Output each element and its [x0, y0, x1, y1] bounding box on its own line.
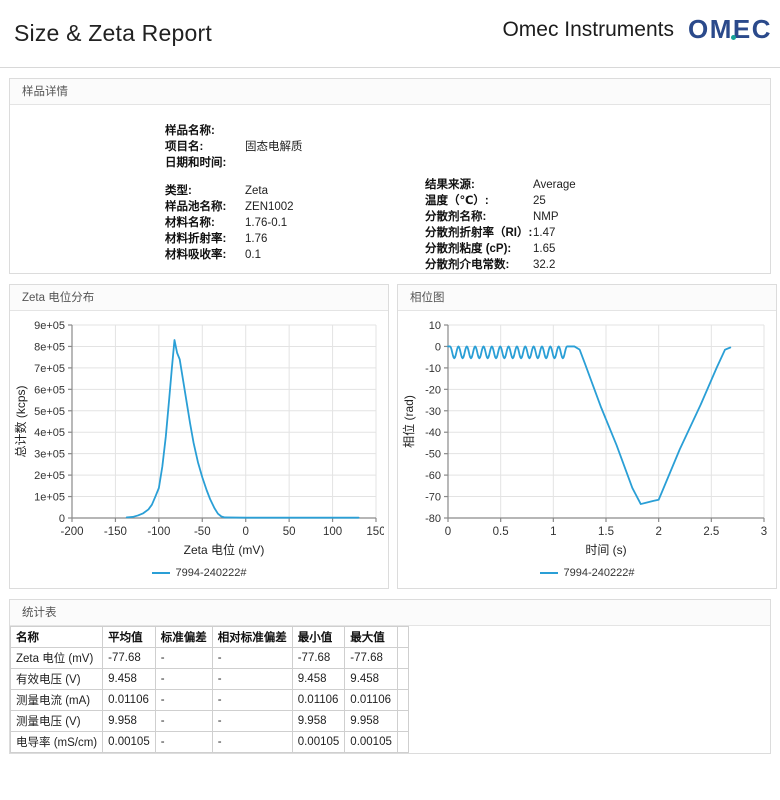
detail-label: 类型:: [165, 183, 245, 199]
table-cell: [397, 711, 408, 732]
svg-text:-50: -50: [194, 526, 211, 538]
stats-table-panel: 统计表 名称平均值标准偏差相对标准偏差最小值最大值 Zeta 电位 (mV)-7…: [9, 599, 771, 754]
detail-label: 分散剂折射率（RI）:: [425, 225, 533, 241]
table-cell: 0.00105: [292, 732, 345, 753]
table-cell: 9.458: [292, 669, 345, 690]
zeta-distribution-svg: 01e+052e+053e+054e+055e+056e+057e+058e+0…: [14, 315, 384, 560]
stats-table-body: 名称平均值标准偏差相对标准偏差最小值最大值 Zeta 电位 (mV)-77.68…: [10, 626, 770, 753]
detail-value: 25: [533, 193, 546, 209]
table-row: 测量电压 (V)9.958--9.9589.958: [11, 711, 409, 732]
detail-row: 样品池名称:ZEN1002: [165, 199, 303, 215]
table-cell: 0.01106: [103, 690, 156, 711]
legend-line-swatch-icon: [152, 572, 170, 575]
stats-table-body-rows: Zeta 电位 (mV)-77.68---77.68-77.68有效电压 (V)…: [11, 648, 409, 753]
phase-plot-plot: -80-70-60-50-40-30-20-1001000.511.522.53…: [402, 315, 772, 565]
brand-name: Omec Instruments: [502, 18, 674, 42]
detail-row: 项目名:固态电解质: [165, 139, 303, 155]
legend-label: 7994-240222#: [176, 567, 247, 579]
detail-row: 材料折射率:1.76: [165, 231, 303, 247]
svg-text:-150: -150: [104, 526, 127, 538]
svg-text:-10: -10: [425, 363, 441, 375]
detail-value: NMP: [533, 209, 559, 225]
table-cell: [397, 669, 408, 690]
svg-text:50: 50: [283, 526, 296, 538]
page-title: Size & Zeta Report: [14, 20, 212, 47]
svg-text:100: 100: [323, 526, 342, 538]
svg-text:6e+05: 6e+05: [34, 384, 65, 396]
svg-text:-200: -200: [60, 526, 83, 538]
sample-details-column-right: 结果来源:Average温度（℃）:25分散剂名称:NMP分散剂折射率（RI）:…: [425, 177, 576, 273]
table-cell: -: [155, 711, 212, 732]
table-cell: -: [212, 711, 292, 732]
svg-text:-40: -40: [425, 427, 441, 439]
phase-plot-legend: 7994-240222#: [402, 565, 772, 586]
legend-line-swatch-icon: [540, 572, 558, 575]
detail-label: 材料吸收率:: [165, 247, 245, 263]
detail-value: Average: [533, 177, 576, 193]
detail-value: 1.65: [533, 241, 555, 257]
omec-logo: OMEC: [688, 14, 772, 45]
detail-row: 类型:Zeta: [165, 183, 303, 199]
detail-label: 分散剂粘度 (cP):: [425, 241, 533, 257]
svg-text:-50: -50: [425, 449, 441, 461]
sample-details-header: 样品详情: [10, 79, 770, 105]
omec-logo-dot-icon: [731, 35, 736, 40]
table-cell: -: [155, 648, 212, 669]
detail-label: 温度（℃）:: [425, 193, 533, 209]
table-cell: 0.00105: [345, 732, 398, 753]
table-cell: 0.00105: [103, 732, 156, 753]
detail-value: 1.47: [533, 225, 555, 241]
svg-text:0: 0: [445, 526, 451, 538]
detail-label: 材料折射率:: [165, 231, 245, 247]
phase-plot-title: 相位图: [398, 285, 776, 311]
table-column-header: 最大值: [345, 627, 398, 648]
table-row: Zeta 电位 (mV)-77.68---77.68-77.68: [11, 648, 409, 669]
svg-text:3: 3: [761, 526, 767, 538]
detail-row: 结果来源:Average: [425, 177, 576, 193]
detail-value: ZEN1002: [245, 199, 294, 215]
stats-table-header: 统计表: [10, 600, 770, 626]
table-cell: -: [155, 669, 212, 690]
table-cell: -77.68: [103, 648, 156, 669]
svg-text:0: 0: [243, 526, 249, 538]
sample-details-column-left: 样品名称:项目名:固态电解质日期和时间:类型:Zeta样品池名称:ZEN1002…: [165, 123, 303, 263]
report-header: Size & Zeta Report Omec Instruments OMEC: [0, 0, 780, 68]
table-cell: [397, 648, 408, 669]
table-cell: -77.68: [292, 648, 345, 669]
zeta-distribution-title: Zeta 电位分布: [10, 285, 388, 311]
table-cell: 电导率 (mS/cm): [11, 732, 103, 753]
table-cell: -: [212, 669, 292, 690]
detail-label: 日期和时间:: [165, 155, 245, 171]
detail-label: 样品池名称:: [165, 199, 245, 215]
detail-row: 分散剂名称:NMP: [425, 209, 576, 225]
detail-label: 项目名:: [165, 139, 245, 155]
svg-text:-60: -60: [425, 470, 441, 482]
detail-label: 分散剂介电常数:: [425, 257, 533, 273]
charts-row: Zeta 电位分布 01e+052e+053e+054e+055e+056e+0…: [9, 284, 771, 589]
table-cell: 9.958: [292, 711, 345, 732]
table-cell: 9.458: [345, 669, 398, 690]
svg-text:4e+05: 4e+05: [34, 427, 65, 439]
stats-table-head: 名称平均值标准偏差相对标准偏差最小值最大值: [11, 627, 409, 648]
svg-text:2.5: 2.5: [703, 526, 719, 538]
svg-text:2: 2: [655, 526, 661, 538]
table-cell: 0.01106: [292, 690, 345, 711]
omec-logo-text: OMEC: [688, 14, 772, 45]
legend-label: 7994-240222#: [564, 567, 635, 579]
svg-text:150: 150: [366, 526, 384, 538]
phase-plot-svg: -80-70-60-50-40-30-20-1001000.511.522.53…: [402, 315, 772, 560]
table-row: 有效电压 (V)9.458--9.4589.458: [11, 669, 409, 690]
svg-text:5e+05: 5e+05: [34, 406, 65, 418]
svg-text:总计数 (kcps): 总计数 (kcps): [14, 385, 28, 457]
sample-details-body: 样品名称:项目名:固态电解质日期和时间:类型:Zeta样品池名称:ZEN1002…: [10, 105, 770, 273]
table-column-header: 标准偏差: [155, 627, 212, 648]
svg-text:9e+05: 9e+05: [34, 320, 65, 332]
svg-text:10: 10: [429, 320, 441, 332]
detail-value: 32.2: [533, 257, 555, 273]
detail-label: 分散剂名称:: [425, 209, 533, 225]
detail-value: 0.1: [245, 247, 261, 263]
detail-row: 材料名称:1.76-0.1: [165, 215, 303, 231]
table-row: 电导率 (mS/cm)0.00105--0.001050.00105: [11, 732, 409, 753]
svg-text:3e+05: 3e+05: [34, 449, 65, 461]
svg-text:1e+05: 1e+05: [34, 492, 65, 504]
detail-value: 1.76-0.1: [245, 215, 287, 231]
svg-text:时间 (s): 时间 (s): [585, 543, 626, 557]
svg-text:0.5: 0.5: [493, 526, 509, 538]
svg-text:-20: -20: [425, 384, 441, 396]
svg-text:0: 0: [59, 513, 65, 525]
detail-value: 1.76: [245, 231, 267, 247]
svg-text:-70: -70: [425, 492, 441, 504]
table-cell: 有效电压 (V): [11, 669, 103, 690]
table-cell: -: [155, 732, 212, 753]
detail-label: 结果来源:: [425, 177, 533, 193]
table-cell: 测量电压 (V): [11, 711, 103, 732]
table-cell: 9.958: [103, 711, 156, 732]
table-cell: [397, 690, 408, 711]
phase-plot-body: -80-70-60-50-40-30-20-1001000.511.522.53…: [398, 311, 776, 588]
detail-row: 日期和时间:: [165, 155, 303, 171]
table-column-header: [397, 627, 408, 648]
table-cell: -77.68: [345, 648, 398, 669]
detail-row: 分散剂粘度 (cP):1.65: [425, 241, 576, 257]
detail-row: 温度（℃）:25: [425, 193, 576, 209]
detail-row: 分散剂介电常数:32.2: [425, 257, 576, 273]
svg-text:-30: -30: [425, 406, 441, 418]
sample-details-panel: 样品详情 样品名称:项目名:固态电解质日期和时间:类型:Zeta样品池名称:ZE…: [9, 78, 771, 274]
detail-label: 样品名称:: [165, 123, 245, 139]
table-cell: 0.01106: [345, 690, 398, 711]
svg-text:相位 (rad): 相位 (rad): [402, 395, 416, 448]
svg-text:8e+05: 8e+05: [34, 341, 65, 353]
table-header-row: 名称平均值标准偏差相对标准偏差最小值最大值: [11, 627, 409, 648]
zeta-distribution-legend: 7994-240222#: [14, 565, 384, 586]
detail-value: 固态电解质: [245, 139, 303, 155]
detail-row: 材料吸收率:0.1: [165, 247, 303, 263]
svg-text:-80: -80: [425, 513, 441, 525]
table-cell: 9.958: [345, 711, 398, 732]
svg-text:0: 0: [435, 341, 441, 353]
table-cell: [397, 732, 408, 753]
svg-text:1: 1: [550, 526, 556, 538]
detail-row: 分散剂折射率（RI）:1.47: [425, 225, 576, 241]
detail-value: Zeta: [245, 183, 268, 199]
table-column-header: 名称: [11, 627, 103, 648]
zeta-distribution-body: 01e+052e+053e+054e+055e+056e+057e+058e+0…: [10, 311, 388, 588]
table-row: 测量电流 (mA)0.01106--0.011060.01106: [11, 690, 409, 711]
table-column-header: 最小值: [292, 627, 345, 648]
zeta-distribution-plot: 01e+052e+053e+054e+055e+056e+057e+058e+0…: [14, 315, 384, 565]
stats-table: 名称平均值标准偏差相对标准偏差最小值最大值 Zeta 电位 (mV)-77.68…: [10, 626, 409, 753]
brand-area: Omec Instruments OMEC: [502, 14, 772, 45]
table-column-header: 平均值: [103, 627, 156, 648]
phase-plot-panel: 相位图 -80-70-60-50-40-30-20-1001000.511.52…: [397, 284, 777, 589]
table-cell: Zeta 电位 (mV): [11, 648, 103, 669]
svg-text:-100: -100: [147, 526, 170, 538]
table-cell: -: [212, 690, 292, 711]
table-cell: -: [212, 648, 292, 669]
table-cell: -: [155, 690, 212, 711]
table-cell: 9.458: [103, 669, 156, 690]
table-cell: -: [212, 732, 292, 753]
table-column-header: 相对标准偏差: [212, 627, 292, 648]
svg-text:Zeta 电位 (mV): Zeta 电位 (mV): [184, 542, 265, 557]
zeta-distribution-panel: Zeta 电位分布 01e+052e+053e+054e+055e+056e+0…: [9, 284, 389, 589]
detail-row: 样品名称:: [165, 123, 303, 139]
svg-text:1.5: 1.5: [598, 526, 614, 538]
table-cell: 测量电流 (mA): [11, 690, 103, 711]
svg-text:2e+05: 2e+05: [34, 470, 65, 482]
svg-text:7e+05: 7e+05: [34, 363, 65, 375]
detail-label: 材料名称:: [165, 215, 245, 231]
